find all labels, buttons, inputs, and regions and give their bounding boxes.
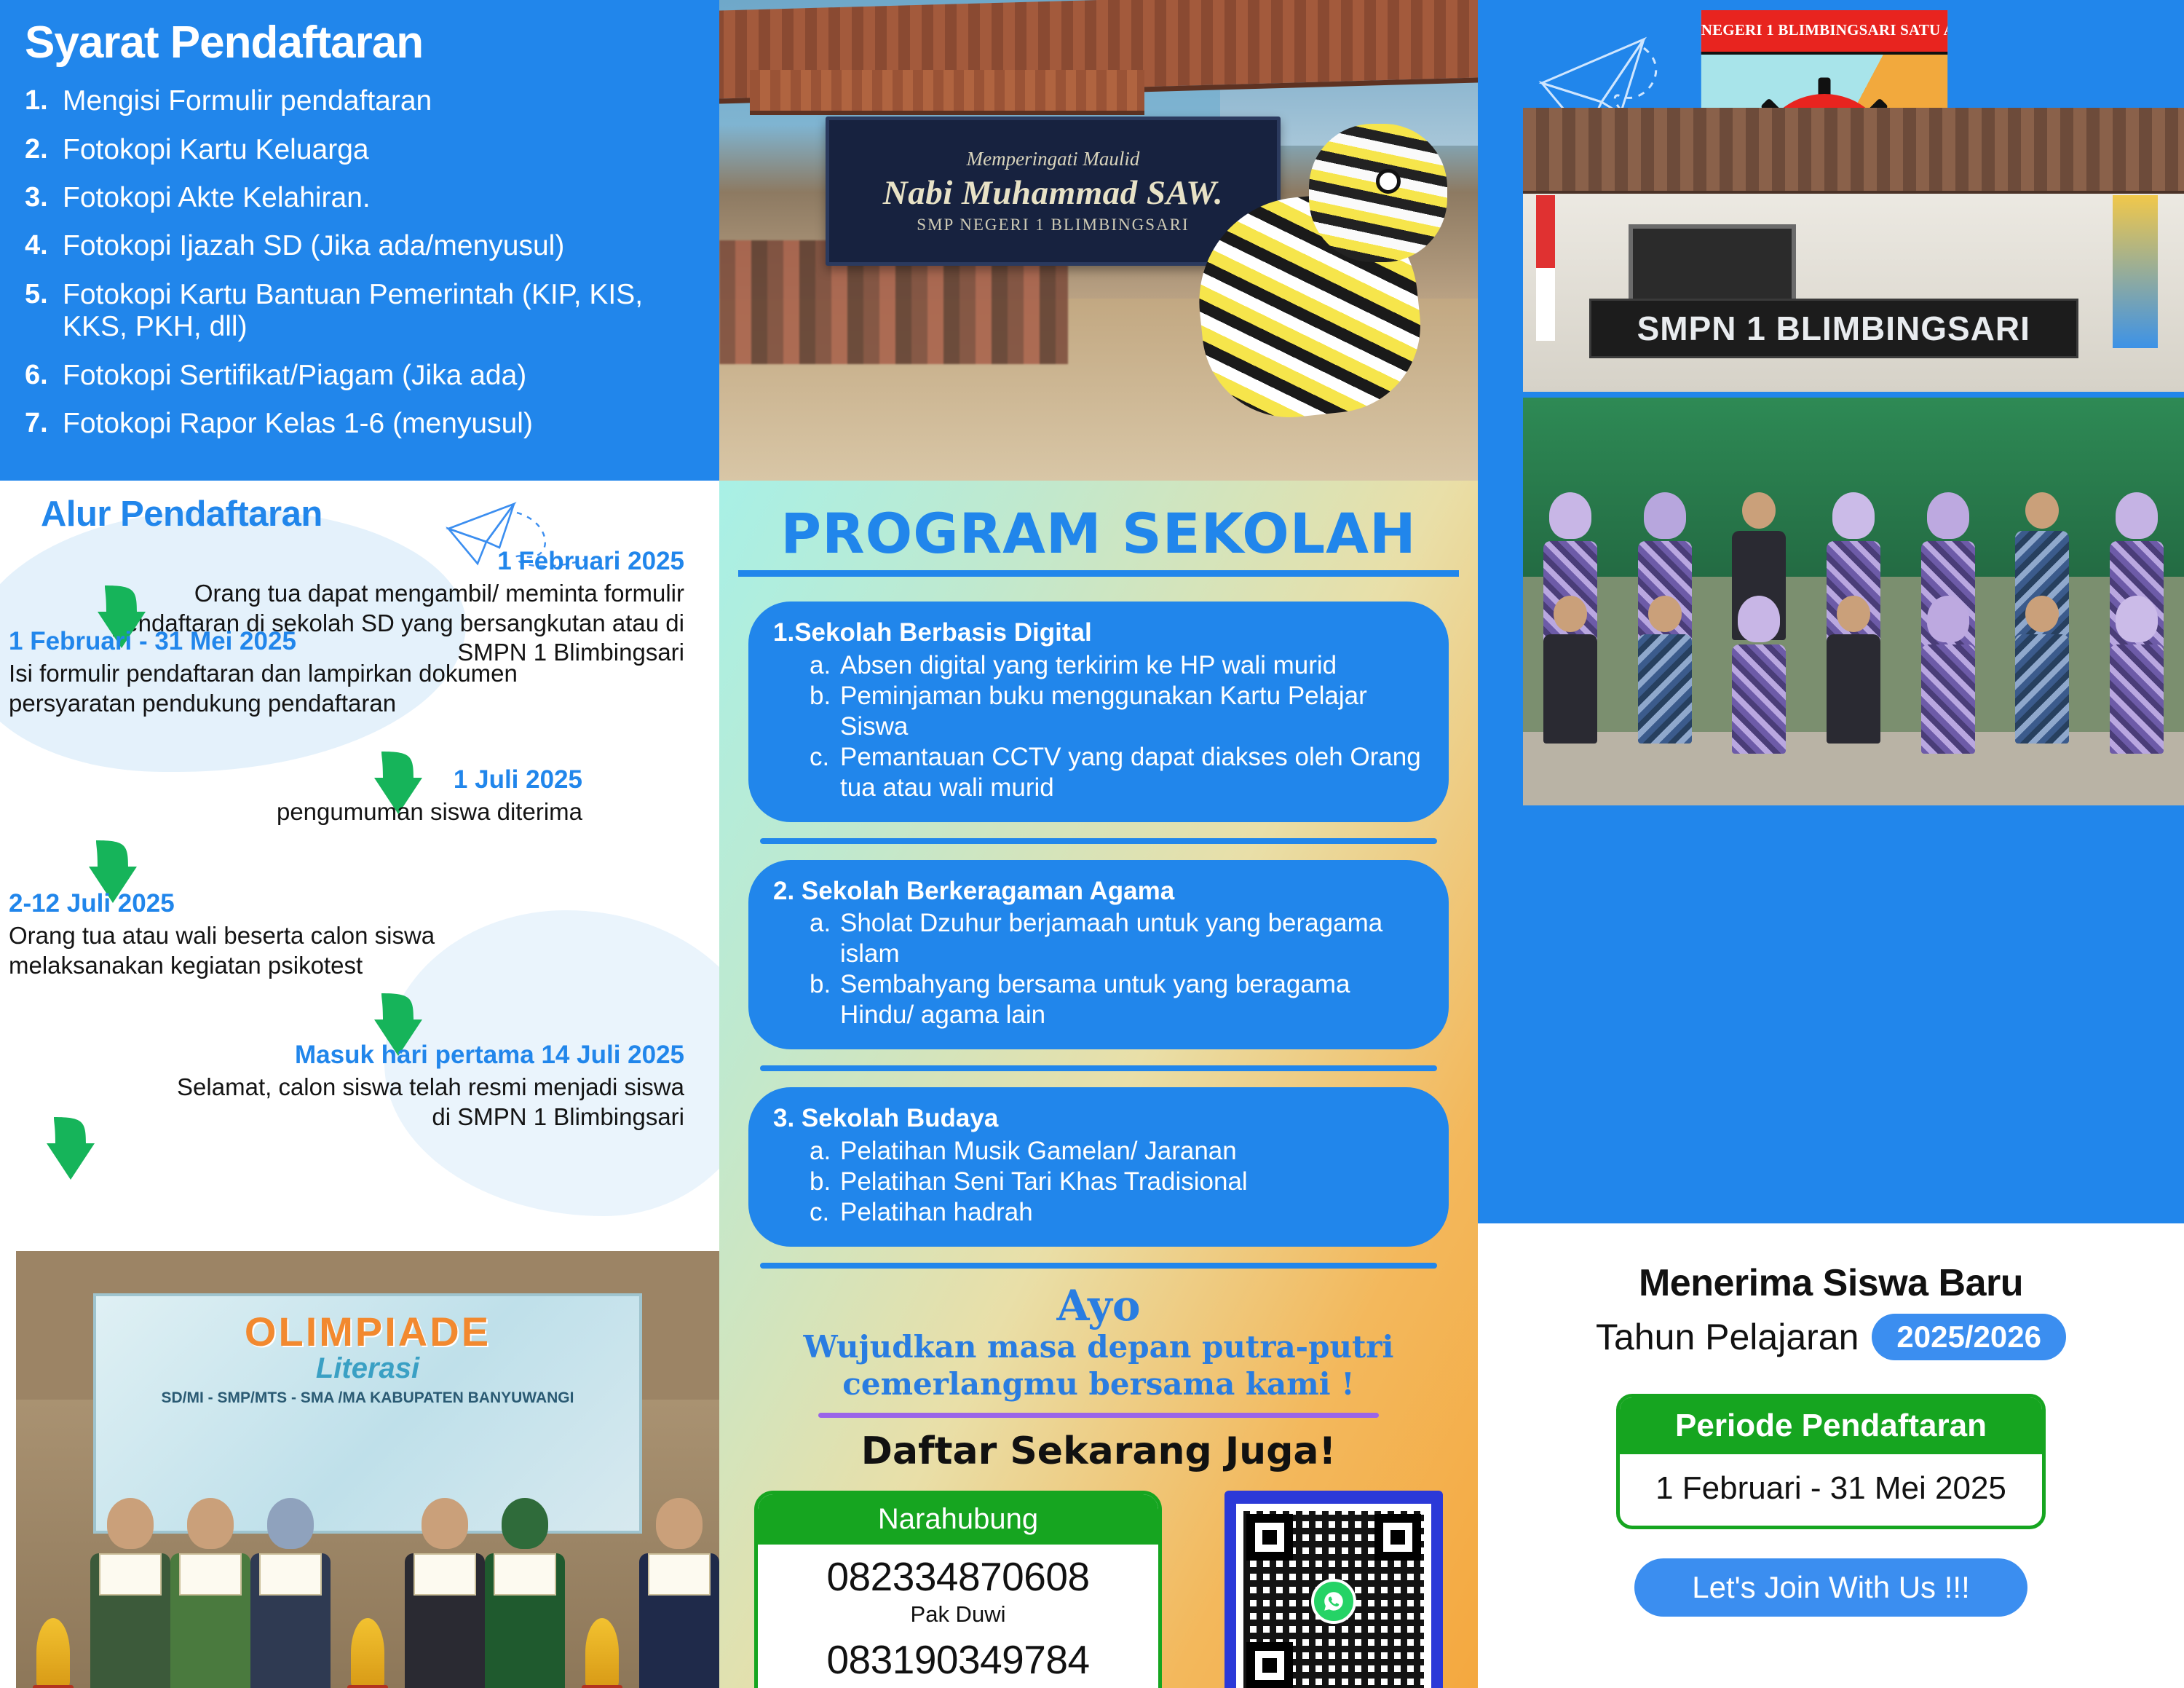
program-subitems: a. Absen digital yang terkirim ke HP wal…	[810, 650, 1424, 803]
list-item: a. Sholat Dzuhur berjamaah untuk yang be…	[810, 908, 1424, 969]
person	[405, 1498, 485, 1688]
subitem-letter: b.	[810, 1167, 840, 1197]
item-text: Fotokopi Rapor Kelas 1-6 (menyusul)	[63, 408, 697, 440]
person	[1541, 596, 1599, 754]
list-item: b. Sembahyang bersama untuk yang beragam…	[810, 969, 1424, 1030]
building-wall	[1523, 194, 2184, 392]
person	[331, 1618, 405, 1688]
step-description: pengumuman siswa diterima	[218, 797, 582, 827]
person	[1730, 596, 1788, 754]
step-date: Masuk hari pertama 14 Juli 2025	[175, 1040, 684, 1070]
person	[1824, 596, 1883, 754]
program-heading: 2. Sekolah Berkeragaman Agama	[773, 876, 1424, 907]
list-item: c. Pelatihan hadrah	[810, 1197, 1424, 1228]
academic-year-row: Tahun Pelajaran 2025/2026	[1478, 1314, 2184, 1360]
join-button[interactable]: Let's Join With Us !!!	[1634, 1558, 2027, 1617]
program-subitems: a. Pelatihan Musik Gamelan/ Jaranan b. P…	[810, 1136, 1424, 1228]
subitem-letter: b.	[810, 969, 840, 1030]
requirements-list: 1. Mengisi Formulir pendaftaran 2. Fotok…	[25, 85, 697, 441]
item-text: Fotokopi Ijazah SD (Jika ada/menyusul)	[63, 230, 697, 262]
logo-name-text: SMP NEGERI 1 BLIMBINGSARI SATU ATAP	[1666, 21, 1984, 39]
cta-line-1: Wujudkan masa depan putra-putri	[738, 1330, 1459, 1364]
registration-flow-section: Alur Pendaftaran 1 Februari 2025 Orang t…	[0, 481, 719, 1245]
admission-heading: Menerima Siswa Baru	[1478, 1261, 2184, 1305]
flow-step-5: Masuk hari pertama 14 Juli 2025 Selamat,…	[175, 1040, 684, 1132]
item-number: 4.	[25, 230, 63, 261]
requirements-title: Syarat Pendaftaran	[25, 19, 697, 66]
item-text: Mengisi Formulir pendaftaran	[63, 85, 697, 117]
subitem-text: Pemantauan CCTV yang dapat diakses oleh …	[840, 742, 1424, 803]
person	[90, 1498, 170, 1688]
building-roof	[1523, 108, 2184, 195]
register-now-text: Daftar Sekarang Juga!	[738, 1429, 1459, 1473]
step-date: 2-12 Juli 2025	[9, 888, 489, 918]
person	[1919, 596, 1977, 754]
award-recipients	[16, 1470, 719, 1688]
item-text: Fotokopi Kartu Keluarga	[63, 134, 697, 166]
contact-card: Narahubung 082334870608 Pak Duwi 0831903…	[754, 1491, 1162, 1688]
contact-phone-1[interactable]: 082334870608	[758, 1553, 1158, 1600]
qr-code-image[interactable]	[1236, 1504, 1431, 1688]
step-date: 1 Februari - 31 Mei 2025	[9, 626, 518, 656]
item-text: Fotokopi Sertifikat/Piagam (Jika ada)	[63, 360, 697, 392]
qr-finder-icon	[1246, 1514, 1293, 1561]
program-card-2: 2. Sekolah Berkeragaman Agama a. Sholat …	[748, 860, 1449, 1050]
list-item: 5. Fotokopi Kartu Bantuan Pemerintah (KI…	[25, 279, 697, 344]
pavilion-roof-secondary	[750, 70, 1144, 115]
banner-detail: SD/MI - SMP/MTS - SMA /MA KABUPATEN BANY…	[96, 1389, 638, 1407]
item-text: Fotokopi Akte Kelahiran.	[63, 182, 697, 214]
barong-head	[1309, 124, 1447, 262]
contact-phone-2[interactable]: 083190349784	[758, 1636, 1158, 1683]
program-subitems: a. Sholat Dzuhur berjamaah untuk yang be…	[810, 908, 1424, 1030]
school-program-section: PROGRAM SEKOLAH 1.Sekolah Berbasis Digit…	[719, 481, 1478, 1688]
person	[250, 1498, 331, 1688]
whatsapp-icon	[1311, 1579, 1356, 1624]
people-row-front	[1523, 596, 2184, 754]
contact-card-title: Narahubung	[758, 1494, 1158, 1545]
banner-subtitle: Literasi	[96, 1352, 638, 1385]
subitem-letter: c.	[810, 742, 840, 803]
list-item: c. Pemantauan CCTV yang dapat diakses ol…	[810, 742, 1424, 803]
flow-step-2: 1 Februari - 31 Mei 2025 Isi formulir pe…	[9, 626, 518, 718]
contact-row: Narahubung 082334870608 Pak Duwi 0831903…	[738, 1491, 1459, 1688]
person	[1636, 596, 1694, 754]
program-heading: 3. Sekolah Budaya	[773, 1103, 1424, 1135]
item-text: Fotokopi Kartu Bantuan Pemerintah (KIP, …	[63, 279, 697, 344]
side-banner	[2113, 195, 2158, 348]
flow-step-4: 2-12 Juli 2025 Orang tua atau wali beser…	[9, 888, 489, 980]
banner-line-1: Memperingati Maulid	[967, 148, 1140, 170]
contact-person-2: Admin/Pak Margaret	[758, 1684, 1158, 1688]
registration-period-title: Periode Pendaftaran	[1620, 1397, 2042, 1454]
step-date: 1 Juli 2025	[218, 765, 582, 794]
item-number: 1.	[25, 85, 63, 117]
divider	[818, 1413, 1379, 1418]
list-item: 4. Fotokopi Ijazah SD (Jika ada/menyusul…	[25, 230, 697, 262]
list-item: b. Peminjaman buku menggunakan Kartu Pel…	[810, 681, 1424, 742]
right-column: SMP NEGERI 1 BLIMBINGSARI SATU ATAP	[1478, 0, 2184, 1223]
person	[565, 1618, 639, 1688]
subitem-letter: b.	[810, 681, 840, 742]
subitem-letter: a.	[810, 908, 840, 969]
item-number: 7.	[25, 408, 63, 439]
academic-year-label: Tahun Pelajaran	[1596, 1316, 1859, 1358]
cta-line-2: cemerlangmu bersama kami !	[738, 1367, 1459, 1401]
academic-year-badge: 2025/2026	[1872, 1314, 2066, 1360]
person	[2108, 596, 2166, 754]
program-card-1: 1.Sekolah Berbasis Digital a. Absen digi…	[748, 602, 1449, 822]
registration-period-card: Periode Pendaftaran 1 Februari - 31 Mei …	[1616, 1394, 2046, 1529]
photo-olimpiade-award: OLIMPIADE Literasi SD/MI - SMP/MTS - SMA…	[16, 1251, 719, 1688]
photo-maulid-celebration: Memperingati Maulid Nabi Muhammad SAW. S…	[719, 0, 1478, 481]
admission-info-panel: Menerima Siswa Baru Tahun Pelajaran 2025…	[1478, 1223, 2184, 1688]
contact-person-1: Pak Duwi	[758, 1601, 1158, 1628]
indonesian-flag	[1536, 195, 1555, 341]
list-item: 2. Fotokopi Kartu Keluarga	[25, 134, 697, 166]
logo-name-band: SMP NEGERI 1 BLIMBINGSARI SATU ATAP	[1697, 8, 1952, 55]
divider	[760, 1263, 1437, 1269]
subitem-text: Pelatihan hadrah	[840, 1197, 1033, 1228]
person	[170, 1498, 250, 1688]
step-description: Isi formulir pendaftaran dan lampirkan d…	[9, 659, 518, 718]
person	[16, 1618, 90, 1688]
list-item: a. Pelatihan Musik Gamelan/ Jaranan	[810, 1136, 1424, 1167]
list-item: a. Absen digital yang terkirim ke HP wal…	[810, 650, 1424, 681]
list-item: 7. Fotokopi Rapor Kelas 1-6 (menyusul)	[25, 408, 697, 440]
divider	[760, 1065, 1437, 1071]
person	[2013, 596, 2071, 754]
item-number: 2.	[25, 134, 63, 165]
arrow-down-icon	[44, 1114, 98, 1184]
step-date: 1 Februari 2025	[109, 546, 684, 576]
barong-costume	[1200, 124, 1440, 415]
qr-finder-icon	[1246, 1642, 1293, 1688]
list-item: 3. Fotokopi Akte Kelahiran.	[25, 182, 697, 214]
list-item: 6. Fotokopi Sertifikat/Piagam (Jika ada)	[25, 360, 697, 392]
subitem-letter: a.	[810, 1136, 840, 1167]
school-name-sign: SMPN 1 BLIMBINGSARI	[1589, 299, 2078, 358]
banner-line-3: SMP NEGERI 1 BLIMBINGSARI	[917, 216, 1189, 234]
subitem-letter: a.	[810, 650, 840, 681]
program-card-3: 3. Sekolah Budaya a. Pelatihan Musik Gam…	[748, 1087, 1449, 1247]
item-number: 6.	[25, 360, 63, 391]
step-description: Orang tua atau wali beserta calon siswa …	[9, 921, 489, 980]
qr-code-block[interactable]: Silahkan Scan !	[1224, 1491, 1443, 1688]
photo-school-building: SMPN 1 BLIMBINGSARI	[1523, 108, 2184, 392]
person	[485, 1498, 565, 1688]
step-description: Selamat, calon siswa telah resmi menjadi…	[175, 1073, 684, 1132]
registration-period-dates: 1 Februari - 31 Mei 2025	[1620, 1454, 2042, 1526]
list-item: b. Pelatihan Seni Tari Khas Tradisional	[810, 1167, 1424, 1197]
barong-eye	[1376, 169, 1401, 194]
item-number: 3.	[25, 182, 63, 213]
person	[639, 1498, 719, 1688]
subitem-text: Peminjaman buku menggunakan Kartu Pelaja…	[840, 681, 1424, 742]
cta-ayo: Ayo	[738, 1285, 1459, 1327]
subitem-text: Pelatihan Musik Gamelan/ Jaranan	[840, 1136, 1237, 1167]
subitem-text: Pelatihan Seni Tari Khas Tradisional	[840, 1167, 1248, 1197]
photo-teachers-group	[1523, 398, 2184, 805]
program-title: PROGRAM SEKOLAH	[738, 501, 1459, 577]
qr-finder-icon	[1374, 1514, 1421, 1561]
subitem-letter: c.	[810, 1197, 840, 1228]
item-number: 5.	[25, 279, 63, 310]
requirements-section: Syarat Pendaftaran 1. Mengisi Formulir p…	[0, 0, 719, 481]
list-item: 1. Mengisi Formulir pendaftaran	[25, 85, 697, 117]
divider	[760, 838, 1437, 844]
brochure-page: Syarat Pendaftaran 1. Mengisi Formulir p…	[0, 0, 2184, 1688]
flow-step-3: 1 Juli 2025 pengumuman siswa diterima	[218, 765, 582, 827]
banner-line-2: Nabi Muhammad SAW.	[883, 173, 1223, 213]
program-heading: 1.Sekolah Berbasis Digital	[773, 618, 1424, 649]
subitem-text: Sholat Dzuhur berjamaah untuk yang berag…	[840, 908, 1424, 969]
call-to-action-block: Ayo Wujudkan masa depan putra-putri ceme…	[738, 1285, 1459, 1401]
school-name-sign-text: SMPN 1 BLIMBINGSARI	[1637, 309, 2030, 348]
banner-title: OLIMPIADE	[96, 1308, 638, 1355]
subitem-text: Absen digital yang terkirim ke HP wali m…	[840, 650, 1337, 681]
subitem-text: Sembahyang bersama untuk yang beragama H…	[840, 969, 1424, 1030]
